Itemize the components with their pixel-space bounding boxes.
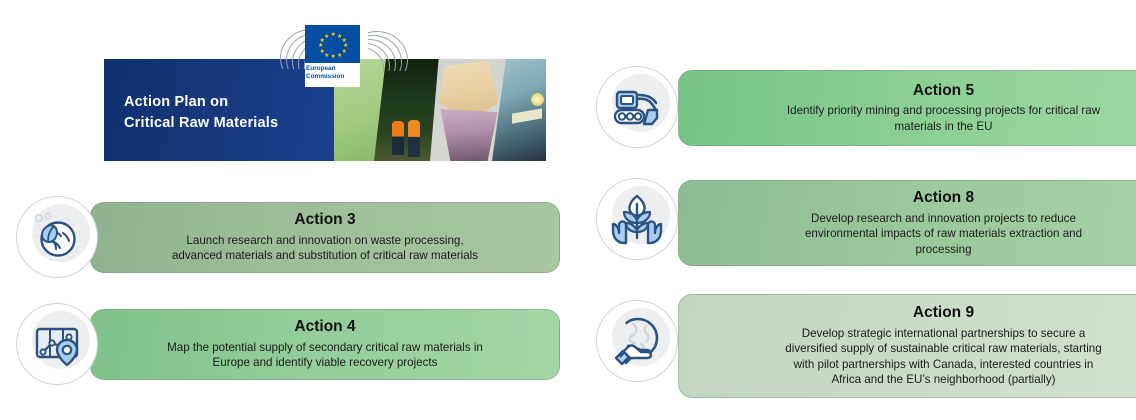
action-pill-action-9[interactable]: Action 9 Develop strategic international…	[678, 294, 1136, 398]
action-description: Identify priority mining and processing …	[773, 103, 1114, 134]
action-row-action-5: Action 5 Identify priority mining and pr…	[596, 66, 1136, 150]
hands-holding-plant-icon	[596, 178, 678, 260]
action-pill-action-8[interactable]: Action 8 Develop research and innovation…	[678, 180, 1136, 266]
eu-flag-icon: ★ ★ ★ ★ ★ ★ ★ ★ ★ ★ ★ ★	[305, 25, 360, 63]
action-row-action-9: Action 9 Develop strategic international…	[596, 290, 1136, 402]
action-title: Action 8	[913, 189, 974, 208]
eu-commission-label: European Commission	[306, 65, 344, 81]
action-description: Map the potential supply of secondary cr…	[153, 340, 497, 371]
action-title: Action 5	[913, 82, 974, 101]
banner-title: Action Plan on Critical Raw Materials	[124, 92, 278, 134]
globe-leaf-icon	[16, 196, 98, 278]
european-commission-logo: ★ ★ ★ ★ ★ ★ ★ ★ ★ ★ ★ ★ European Commiss…	[274, 25, 396, 125]
excavator-icon	[596, 66, 678, 148]
action-description: Launch research and innovation on waste …	[158, 233, 492, 264]
action-title: Action 3	[294, 211, 355, 230]
action-description: Develop research and innovation projects…	[791, 211, 1096, 257]
action-row-action-8: Action 8 Develop research and innovation…	[596, 176, 1136, 270]
map-pin-route-icon	[16, 303, 98, 385]
action-row-action-4: Action 4 Map the potential supply of sec…	[8, 303, 568, 387]
action-title: Action 9	[913, 304, 974, 323]
hand-holding-globe-icon	[596, 300, 678, 382]
logo-fan-right	[368, 27, 414, 71]
action-title: Action 4	[294, 318, 355, 337]
action-plan-banner: Action Plan on Critical Raw Materials ★ …	[104, 59, 546, 161]
action-pill-action-4[interactable]: Action 4 Map the potential supply of sec…	[90, 309, 560, 380]
action-pill-action-5[interactable]: Action 5 Identify priority mining and pr…	[678, 70, 1136, 146]
action-pill-action-3[interactable]: Action 3 Launch research and innovation …	[90, 202, 560, 273]
action-description: Develop strategic international partners…	[771, 326, 1115, 388]
eu-flag-box: ★ ★ ★ ★ ★ ★ ★ ★ ★ ★ ★ ★ European Commiss…	[305, 25, 360, 87]
action-row-action-3: Action 3 Launch research and innovation …	[8, 196, 568, 280]
